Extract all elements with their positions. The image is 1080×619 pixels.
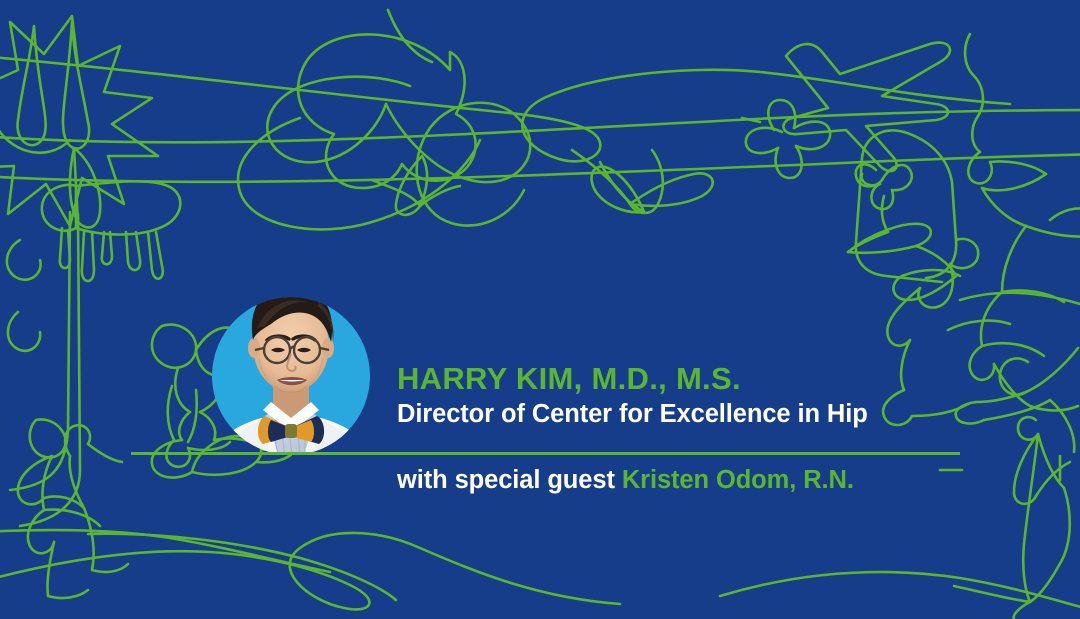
butterfly-icon (742, 100, 830, 178)
sun-burst-with-smile-icon (0, 16, 158, 226)
airplane-icon (783, 43, 950, 171)
speaker-title: Director of Center for Excellence in Hip (397, 400, 1057, 429)
guest-line: with special guest Kristen Odom, R.N. (397, 466, 854, 495)
hill-line-2 (720, 572, 1080, 612)
leaf-sprout-icon-2 (592, 162, 644, 212)
speaker-photo (209, 262, 373, 492)
hanging-plant-icon (42, 148, 180, 281)
guest-name: Kristen Odom, R.N. (622, 466, 854, 494)
green-divider-rule (131, 452, 960, 455)
decorative-doodle-layer (0, 0, 1080, 619)
horizon-line-2 (0, 154, 1080, 182)
sweeping-curve-1 (0, 56, 1010, 161)
speaker-portrait (212, 297, 370, 455)
handstand-gymnast-icon (965, 34, 1080, 411)
running-figure-icon (18, 420, 128, 598)
leaf-sprout-icon-1 (372, 156, 460, 215)
cloud-icon (298, 34, 476, 188)
bird-icon (572, 150, 713, 213)
speaker-name: HARRY KIM, M.D., M.S. (397, 362, 1057, 395)
hill-line-1 (0, 530, 330, 572)
speaker-announcement-banner: HARRY KIM, M.D., M.S. Director of Center… (0, 0, 1080, 619)
guest-prefix-label: with special guest (397, 466, 622, 494)
horizon-line-1 (0, 110, 1080, 142)
speaker-text-block: HARRY KIM, M.D., M.S. Director of Center… (397, 362, 1057, 429)
